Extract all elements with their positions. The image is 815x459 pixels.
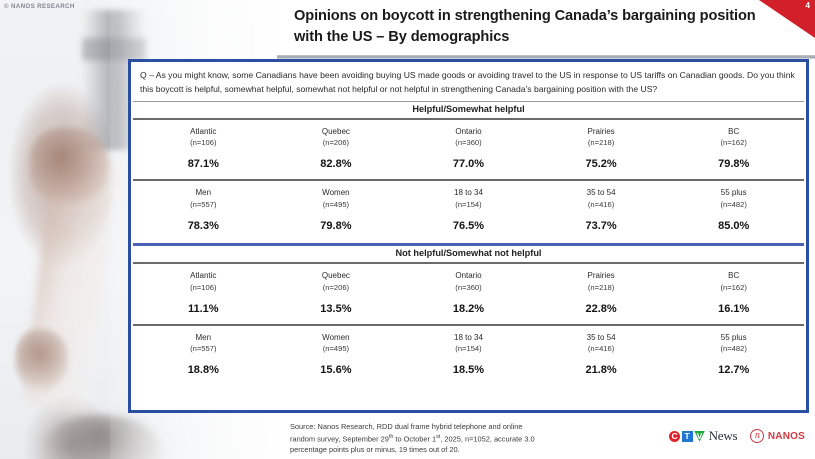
category-label: Women [270, 181, 403, 199]
section1-block1-values: 87.1% 82.8% 77.0% 75.2% 79.8% [131, 148, 806, 179]
category-label: Prairies [535, 264, 668, 282]
sample-size: (n=206) [270, 137, 403, 148]
category-label: 35 to 54 [535, 181, 668, 199]
table-header-cell: Ontario (n=360) [402, 264, 535, 293]
header-band: Opinions on boycott in strengthening Can… [277, 0, 815, 56]
sample-size: (n=495) [270, 343, 403, 354]
value-cell: 21.8% [535, 354, 668, 385]
sample-size: (n=154) [402, 343, 535, 354]
sample-size: (n=482) [667, 199, 800, 210]
table-header-cell: Atlantic (n=106) [137, 120, 270, 149]
question-text: Q – As you might know, some Canadians ha… [131, 62, 806, 101]
section-title-helpful: Helpful/Somewhat helpful [131, 102, 806, 118]
value-cell: 18.8% [137, 354, 270, 385]
table-header-cell: Women (n=495) [270, 181, 403, 210]
content-box: Q – As you might know, some Canadians ha… [128, 59, 809, 413]
copyright-notice: © NANOS RESEARCH [4, 3, 75, 10]
background-second-fist-shape [16, 330, 68, 386]
table-header-cell: Atlantic (n=106) [137, 264, 270, 293]
sample-size: (n=218) [535, 137, 668, 148]
category-label: Atlantic [137, 120, 270, 138]
table-header-cell: 35 to 54 (n=416) [535, 326, 668, 355]
category-label: Women [270, 326, 403, 344]
table-header-cell: BC (n=162) [667, 264, 800, 293]
value-cell: 75.2% [535, 148, 668, 179]
value-cell: 76.5% [402, 210, 535, 241]
ctv-t-icon: T [682, 431, 693, 442]
table-header-cell: 18 to 34 (n=154) [402, 326, 535, 355]
source-line-3: percentage points plus or minus, 19 time… [290, 445, 460, 454]
category-label: BC [667, 264, 800, 282]
section2-block2-values: 18.8% 15.6% 18.5% 21.8% 12.7% [131, 354, 806, 385]
value-cell: 82.8% [270, 148, 403, 179]
logo-row: C T V News n NANOS [669, 428, 805, 444]
section1-block2-values: 78.3% 79.8% 76.5% 73.7% 85.0% [131, 210, 806, 241]
sample-size: (n=557) [137, 199, 270, 210]
ctv-v-icon: V [694, 431, 705, 442]
sample-size: (n=106) [137, 282, 270, 293]
source-line-2a: random survey, September 29 [290, 434, 389, 443]
value-cell: 85.0% [667, 210, 800, 241]
sample-size: (n=206) [270, 282, 403, 293]
value-cell: 87.1% [137, 148, 270, 179]
ctv-c-icon: C [669, 431, 680, 442]
category-label: Ontario [402, 264, 535, 282]
sample-size: (n=416) [535, 199, 668, 210]
table-header-cell: Prairies (n=218) [535, 264, 668, 293]
category-label: 35 to 54 [535, 326, 668, 344]
value-cell: 73.7% [535, 210, 668, 241]
category-label: 55 plus [667, 326, 800, 344]
value-cell: 77.0% [402, 148, 535, 179]
section2-block2-headers: Men (n=557) Women (n=495) 18 to 34 (n=15… [131, 326, 806, 355]
table-header-cell: 55 plus (n=482) [667, 181, 800, 210]
category-label: Prairies [535, 120, 668, 138]
sample-size: (n=557) [137, 343, 270, 354]
section-title-not-helpful: Not helpful/Somewhat not helpful [131, 246, 806, 262]
page-number: 4 [806, 1, 810, 10]
category-label: 18 to 34 [402, 181, 535, 199]
section2-block1-headers: Atlantic (n=106) Quebec (n=206) Ontario … [131, 264, 806, 293]
value-cell: 18.2% [402, 293, 535, 324]
sample-size: (n=218) [535, 282, 668, 293]
value-cell: 22.8% [535, 293, 668, 324]
category-label: BC [667, 120, 800, 138]
nanos-logo: n NANOS [750, 429, 805, 443]
category-label: 55 plus [667, 181, 800, 199]
section2-block1-values: 11.1% 13.5% 18.2% 22.8% 16.1% [131, 293, 806, 324]
corner-page-flag: 4 [759, 0, 815, 38]
value-cell: 15.6% [270, 354, 403, 385]
sample-size: (n=162) [667, 282, 800, 293]
source-line-1: Source: Nanos Research, RDD dual frame h… [290, 422, 523, 431]
sample-size: (n=416) [535, 343, 668, 354]
source-line-2b: to October 1 [393, 434, 436, 443]
value-cell: 79.8% [270, 210, 403, 241]
category-label: 18 to 34 [402, 326, 535, 344]
section1-block1-headers: Atlantic (n=106) Quebec (n=206) Ontario … [131, 120, 806, 149]
table-header-cell: 18 to 34 (n=154) [402, 181, 535, 210]
sample-size: (n=154) [402, 199, 535, 210]
sample-size: (n=495) [270, 199, 403, 210]
slide: © NANOS RESEARCH Opinions on boycott in … [0, 0, 815, 459]
ctv-news-wordmark: News [709, 428, 738, 444]
category-label: Men [137, 181, 270, 199]
category-label: Quebec [270, 264, 403, 282]
category-label: Men [137, 326, 270, 344]
table-header-cell: 55 plus (n=482) [667, 326, 800, 355]
table-header-cell: Men (n=557) [137, 326, 270, 355]
value-cell: 11.1% [137, 293, 270, 324]
section1-block2-headers: Men (n=557) Women (n=495) 18 to 34 (n=15… [131, 181, 806, 210]
background-fist-shape [30, 128, 108, 202]
sample-size: (n=482) [667, 343, 800, 354]
value-cell: 79.8% [667, 148, 800, 179]
sample-size: (n=162) [667, 137, 800, 148]
page-title: Opinions on boycott in strengthening Can… [294, 6, 764, 47]
value-cell: 16.1% [667, 293, 800, 324]
value-cell: 78.3% [137, 210, 270, 241]
category-label: Quebec [270, 120, 403, 138]
source-line-2c: , 2025, n=1052, accurate 3.0 [440, 434, 534, 443]
value-cell: 18.5% [402, 354, 535, 385]
category-label: Atlantic [137, 264, 270, 282]
category-label: Ontario [402, 120, 535, 138]
source-note: Source: Nanos Research, RDD dual frame h… [290, 422, 620, 456]
table-header-cell: BC (n=162) [667, 120, 800, 149]
value-cell: 13.5% [270, 293, 403, 324]
value-cell: 12.7% [667, 354, 800, 385]
table-header-cell: Ontario (n=360) [402, 120, 535, 149]
nanos-wordmark: NANOS [768, 431, 805, 442]
table-header-cell: Quebec (n=206) [270, 264, 403, 293]
table-header-cell: Men (n=557) [137, 181, 270, 210]
table-header-cell: Quebec (n=206) [270, 120, 403, 149]
table-header-cell: 35 to 54 (n=416) [535, 181, 668, 210]
sample-size: (n=360) [402, 137, 535, 148]
sample-size: (n=360) [402, 282, 535, 293]
table-header-cell: Prairies (n=218) [535, 120, 668, 149]
sample-size: (n=106) [137, 137, 270, 148]
table-header-cell: Women (n=495) [270, 326, 403, 355]
nanos-n-icon: n [750, 429, 764, 443]
ctv-news-logo: C T V News [669, 428, 737, 444]
